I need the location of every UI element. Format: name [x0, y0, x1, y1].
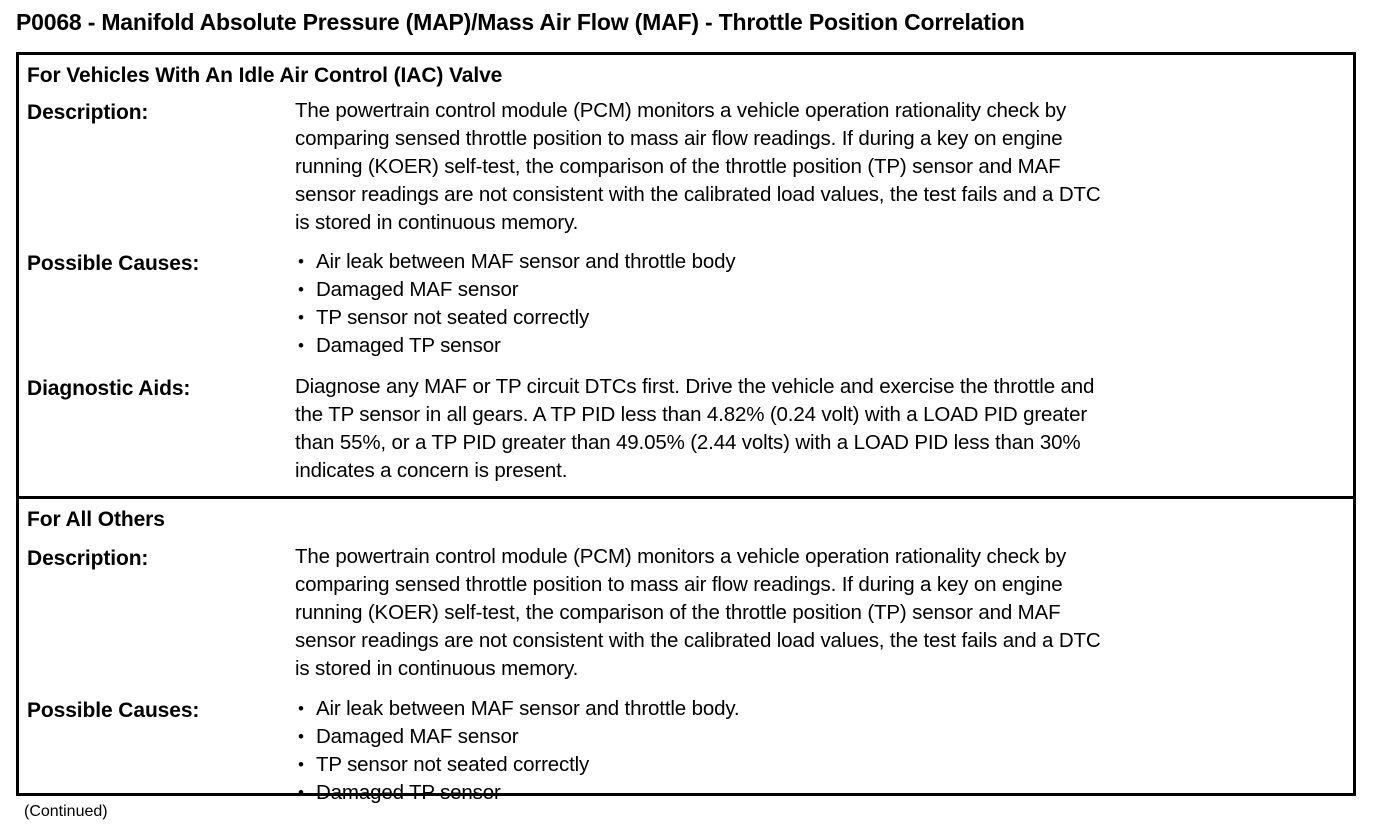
list-item-label: TP sensor not seated correctly: [316, 306, 589, 329]
list-item-label: Damaged MAF sensor: [316, 278, 518, 301]
list-item-label: Air leak between MAF sensor and throttle…: [316, 250, 735, 273]
paragraph-line: The powertrain control module (PCM) moni…: [295, 543, 1343, 571]
section-header-all-others: For All Others: [19, 499, 1353, 537]
row-diagnostic-aids-iac: Diagnostic Aids: Diagnose any MAF or TP …: [19, 373, 1353, 485]
row-possible-causes-iac: Possible Causes: • Air leak between MAF …: [19, 248, 1353, 360]
paragraph-line: is stored in continuous memory.: [295, 655, 1343, 683]
row-label-diagnostic-aids: Diagnostic Aids:: [27, 373, 295, 403]
list-item: • Damaged TP sensor: [295, 779, 1343, 807]
bullet-icon: •: [298, 695, 304, 723]
list-item-label: TP sensor not seated correctly: [316, 753, 589, 776]
paragraph-line: the TP sensor in all gears. A TP PID les…: [295, 401, 1343, 429]
bullet-icon: •: [298, 723, 304, 751]
section-header-iac-valve: For Vehicles With An Idle Air Control (I…: [19, 55, 1353, 93]
list-item: • Damaged TP sensor: [295, 332, 1343, 360]
paragraph-line: running (KOER) self-test, the comparison…: [295, 599, 1343, 627]
row-label-possible-causes: Possible Causes:: [27, 695, 295, 725]
bullet-icon: •: [298, 248, 304, 276]
row-label-description: Description:: [27, 97, 295, 127]
section-all-others: For All Others Description: The powertra…: [19, 499, 1353, 815]
bullet-icon: •: [298, 304, 304, 332]
row-content-diagnostic-aids: Diagnose any MAF or TP circuit DTCs firs…: [295, 373, 1353, 485]
paragraph-line: sensor readings are not consistent with …: [295, 627, 1343, 655]
row-label-description: Description:: [27, 543, 295, 573]
row-possible-causes-all-others: Possible Causes: • Air leak between MAF …: [19, 695, 1353, 807]
row-content-possible-causes: • Air leak between MAF sensor and thrott…: [295, 695, 1353, 807]
document-page: P0068 - Manifold Absolute Pressure (MAP)…: [0, 0, 1392, 836]
row-content-description: The powertrain control module (PCM) moni…: [295, 97, 1353, 237]
page-title: P0068 - Manifold Absolute Pressure (MAP)…: [16, 8, 1356, 36]
list-item: • Air leak between MAF sensor and thrott…: [295, 695, 1343, 723]
possible-causes-list: • Air leak between MAF sensor and thrott…: [295, 695, 1343, 807]
paragraph-line: is stored in continuous memory.: [295, 209, 1343, 237]
list-item-label: Damaged TP sensor: [316, 334, 501, 357]
paragraph-line: comparing sensed throttle position to ma…: [295, 571, 1343, 599]
list-item: • TP sensor not seated correctly: [295, 751, 1343, 779]
row-label-possible-causes: Possible Causes:: [27, 248, 295, 278]
row-description-all-others: Description: The powertrain control modu…: [19, 543, 1353, 683]
list-item: • TP sensor not seated correctly: [295, 304, 1343, 332]
possible-causes-list: • Air leak between MAF sensor and thrott…: [295, 248, 1343, 360]
row-description-iac: Description: The powertrain control modu…: [19, 97, 1353, 237]
bullet-icon: •: [298, 276, 304, 304]
diagnostic-aids-paragraph: Diagnose any MAF or TP circuit DTCs firs…: [295, 373, 1343, 485]
continued-note: (Continued): [24, 802, 108, 822]
list-item-label: Damaged MAF sensor: [316, 725, 518, 748]
bullet-icon: •: [298, 779, 304, 807]
paragraph-line: comparing sensed throttle position to ma…: [295, 125, 1343, 153]
row-content-description: The powertrain control module (PCM) moni…: [295, 543, 1353, 683]
dtc-info-table: For Vehicles With An Idle Air Control (I…: [16, 52, 1356, 796]
paragraph-line: running (KOER) self-test, the comparison…: [295, 153, 1343, 181]
section-iac-valve: For Vehicles With An Idle Air Control (I…: [19, 55, 1353, 496]
list-item-label: Damaged TP sensor: [316, 781, 501, 804]
paragraph-line: indicates a concern is present.: [295, 457, 1343, 485]
list-item: • Damaged MAF sensor: [295, 276, 1343, 304]
description-paragraph: The powertrain control module (PCM) moni…: [295, 543, 1343, 683]
paragraph-line: Diagnose any MAF or TP circuit DTCs firs…: [295, 373, 1343, 401]
paragraph-line: The powertrain control module (PCM) moni…: [295, 97, 1343, 125]
list-item: • Air leak between MAF sensor and thrott…: [295, 248, 1343, 276]
list-item: • Damaged MAF sensor: [295, 723, 1343, 751]
row-content-possible-causes: • Air leak between MAF sensor and thrott…: [295, 248, 1353, 360]
bullet-icon: •: [298, 332, 304, 360]
description-paragraph: The powertrain control module (PCM) moni…: [295, 97, 1343, 237]
paragraph-line: than 55%, or a TP PID greater than 49.05…: [295, 429, 1343, 457]
paragraph-line: sensor readings are not consistent with …: [295, 181, 1343, 209]
list-item-label: Air leak between MAF sensor and throttle…: [316, 697, 739, 720]
bullet-icon: •: [298, 751, 304, 779]
